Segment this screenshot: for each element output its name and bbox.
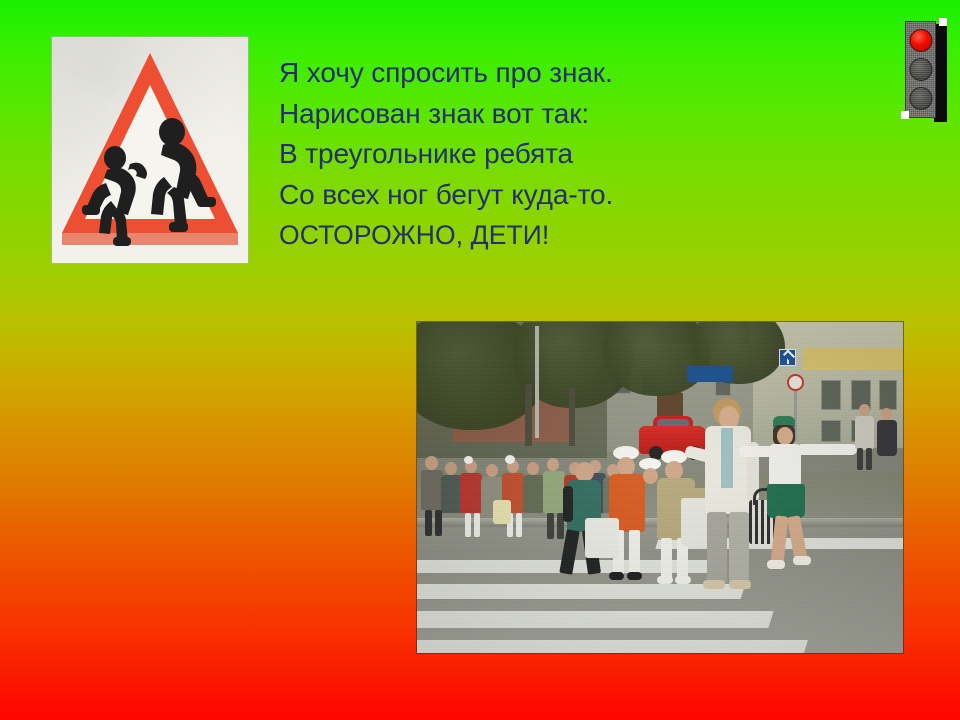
traffic-light-lamp-red — [909, 29, 932, 52]
photo-lamp-post — [535, 326, 539, 438]
photo-adult-leg — [707, 512, 727, 584]
traffic-light-lamp-yellow — [909, 58, 932, 81]
photo-zebra-stripe — [417, 584, 745, 599]
photo-window — [879, 380, 897, 410]
photo-billboard — [687, 366, 733, 382]
photo-tree-trunk — [569, 388, 575, 446]
photo-warden-skirt — [767, 484, 805, 518]
photo-pedestrian-body — [877, 420, 897, 456]
poem-line-2: Нарисован знак вот так: — [279, 94, 749, 135]
photo-child-shoe — [627, 572, 642, 580]
photo-building-right-accent — [803, 348, 903, 370]
traffic-light-lamp-green — [909, 87, 932, 110]
road-sign-svg — [52, 37, 248, 263]
photo-adult-scarf — [721, 428, 733, 488]
photo-warden-arm-right — [797, 444, 857, 455]
presentation-slide: Я хочу спросить про знак. Нарисован знак… — [0, 0, 960, 720]
poem-line-4: Со всех ног бегут куда-то. — [279, 175, 749, 216]
traffic-light-icon — [901, 18, 951, 122]
photo-adult-leg — [729, 512, 749, 584]
photo-prohibition-sign — [787, 374, 804, 391]
photo-pedestrian-leg — [866, 448, 872, 470]
photo-zebra-stripe — [417, 611, 774, 628]
photo-pedestrian — [881, 408, 892, 420]
photo-zebra-stripe — [417, 640, 808, 653]
photo-child — [643, 468, 658, 484]
photo-child-shoe — [675, 576, 691, 584]
poem-line-1: Я хочу спросить про знак. — [279, 53, 749, 94]
photo-warden-head — [777, 427, 793, 445]
photo-child-shoe — [609, 572, 624, 580]
photo-pedestrian — [859, 404, 870, 416]
photo-pedestrian-body — [855, 416, 874, 450]
photo-child-shoe — [657, 576, 673, 584]
photo-child-leg — [629, 530, 640, 576]
photo-warden-shoe — [793, 556, 811, 565]
photo-warden-shoe — [767, 560, 785, 569]
poem-line-5-warning: ОСТОРОЖНО, ДЕТИ! — [279, 215, 749, 256]
poem-line-3: В треугольнике ребята — [279, 134, 749, 175]
photo-tree-trunk — [525, 384, 532, 446]
traffic-light-corner-mark-bottom — [901, 111, 909, 119]
photo-child — [575, 462, 594, 482]
poem-text-block: Я хочу спросить про знак. Нарисован знак… — [279, 53, 749, 256]
photo-adult-shoe — [703, 580, 725, 589]
road-sign-children-image — [52, 37, 248, 263]
traffic-light-body — [905, 21, 936, 118]
photo-shopping-bag — [585, 518, 619, 558]
traffic-light-corner-mark-top — [939, 18, 947, 26]
crosswalk-photo — [417, 322, 903, 653]
photo-adult-shoe — [729, 580, 751, 589]
photo-direction-sign — [779, 349, 796, 366]
photo-child-leg — [661, 538, 672, 580]
photo-child-arm — [563, 486, 573, 522]
photo-pedestrian-leg — [857, 448, 863, 470]
photo-window — [821, 420, 841, 442]
photo-window — [821, 380, 841, 410]
photo-warden-arm-left — [739, 446, 773, 457]
